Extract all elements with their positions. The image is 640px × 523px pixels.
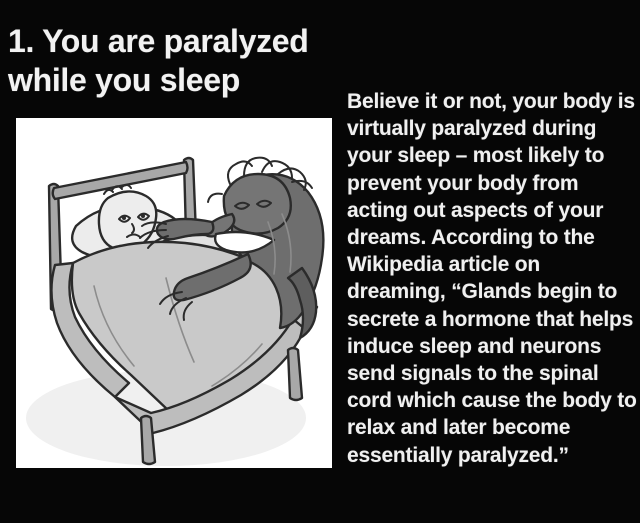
meme-image: 1. You are paralyzed while you sleep .ol… [0,0,640,523]
page-title: 1. You are paralyzed while you sleep [8,22,348,100]
bed-demon-illustration: .ol { stroke:#2b2b2b; stroke-width:2.4; … [16,118,332,468]
body-paragraph: Believe it or not, your body is virtuall… [347,88,639,469]
illustration-panel: .ol { stroke:#2b2b2b; stroke-width:2.4; … [16,118,332,468]
